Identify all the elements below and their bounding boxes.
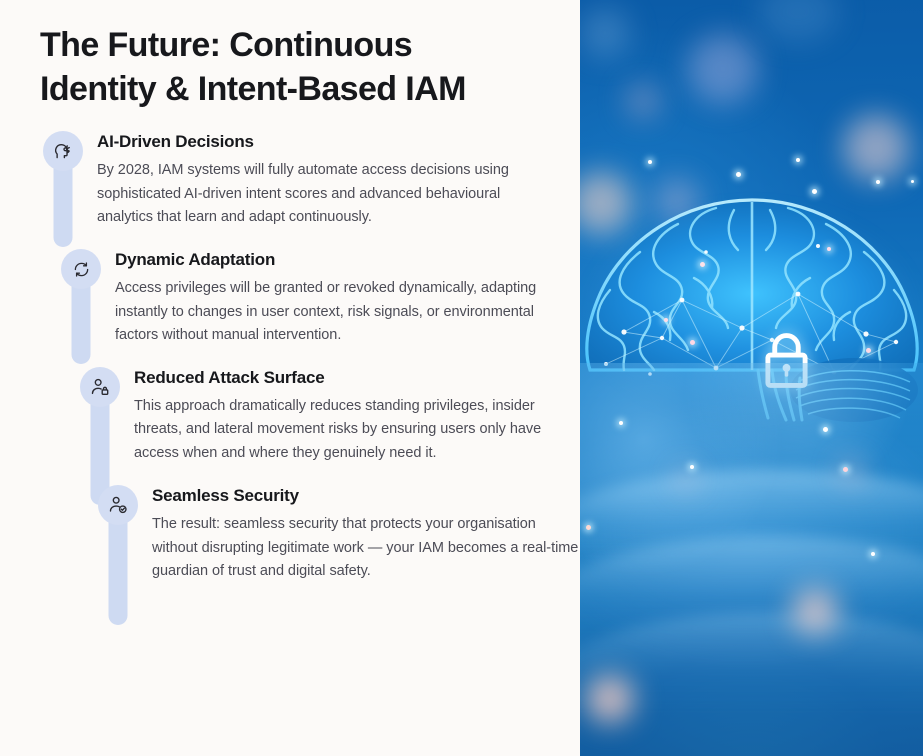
timeline-item-reduced-attack-surface[interactable]: Reduced Attack Surface This approach dra… [80,367,580,465]
timeline-item-heading: Dynamic Adaptation [115,250,551,270]
timeline-marker [80,367,120,407]
spark-dot [796,158,800,162]
timeline-marker [98,485,138,525]
timeline-item-seamless-security[interactable]: Seamless Security The result: seamless s… [98,485,580,583]
spark-dot [876,180,880,184]
timeline-item-text: The result: seamless security that prote… [152,513,580,583]
timeline-marker [61,249,101,289]
spark-dot [812,189,817,194]
timeline-content: AI-Driven Decisions By 2028, IAM systems… [83,131,533,229]
user-lock-icon [89,376,111,398]
spark-dot [866,348,871,353]
head-ai-gear-icon [52,140,74,162]
timeline-item-text: This approach dramatically reduces stand… [134,395,570,465]
spark-dot [690,340,695,345]
wave-ridge [580,612,923,756]
timeline-icon-badge [80,367,120,407]
spark-dot [827,247,831,251]
spark-dot [911,180,914,183]
timeline-icon-badge [98,485,138,525]
page-title: The Future: Continuous Identity & Intent… [40,24,510,111]
spark-dot [648,160,652,164]
timeline-item-text: By 2028, IAM systems will fully automate… [97,159,533,229]
timeline-content: Seamless Security The result: seamless s… [138,485,580,583]
timeline-item-ai-driven-decisions[interactable]: AI-Driven Decisions By 2028, IAM systems… [43,131,580,229]
timeline-item-dynamic-adaptation[interactable]: Dynamic Adaptation Access privileges wil… [61,249,580,347]
spark-dot [843,467,848,472]
spark-dot [823,427,828,432]
spark-dot [736,172,741,177]
refresh-cycle-icon [71,259,92,280]
timeline-icon-badge [61,249,101,289]
spark-dot [664,318,668,322]
timeline-content: Reduced Attack Surface This approach dra… [120,367,570,465]
timeline-content: Dynamic Adaptation Access privileges wil… [101,249,551,347]
timeline-icon-badge [43,131,83,171]
spark-dot [619,421,623,425]
slide-root: The Future: Continuous Identity & Intent… [0,0,923,756]
timeline-item-text: Access privileges will be granted or rev… [115,277,551,347]
timeline-list: AI-Driven Decisions By 2028, IAM systems… [0,131,580,584]
timeline-item-heading: Reduced Attack Surface [134,368,570,388]
timeline-item-heading: AI-Driven Decisions [97,132,533,152]
spark-dot [586,525,591,530]
spark-dot [700,262,705,267]
timeline-marker [43,131,83,171]
timeline-item-heading: Seamless Security [152,486,580,506]
hero-image-panel [580,0,923,756]
user-check-icon [107,494,129,516]
spark-dot [871,552,875,556]
spark-dot [690,465,694,469]
content-panel: The Future: Continuous Identity & Intent… [0,0,580,756]
